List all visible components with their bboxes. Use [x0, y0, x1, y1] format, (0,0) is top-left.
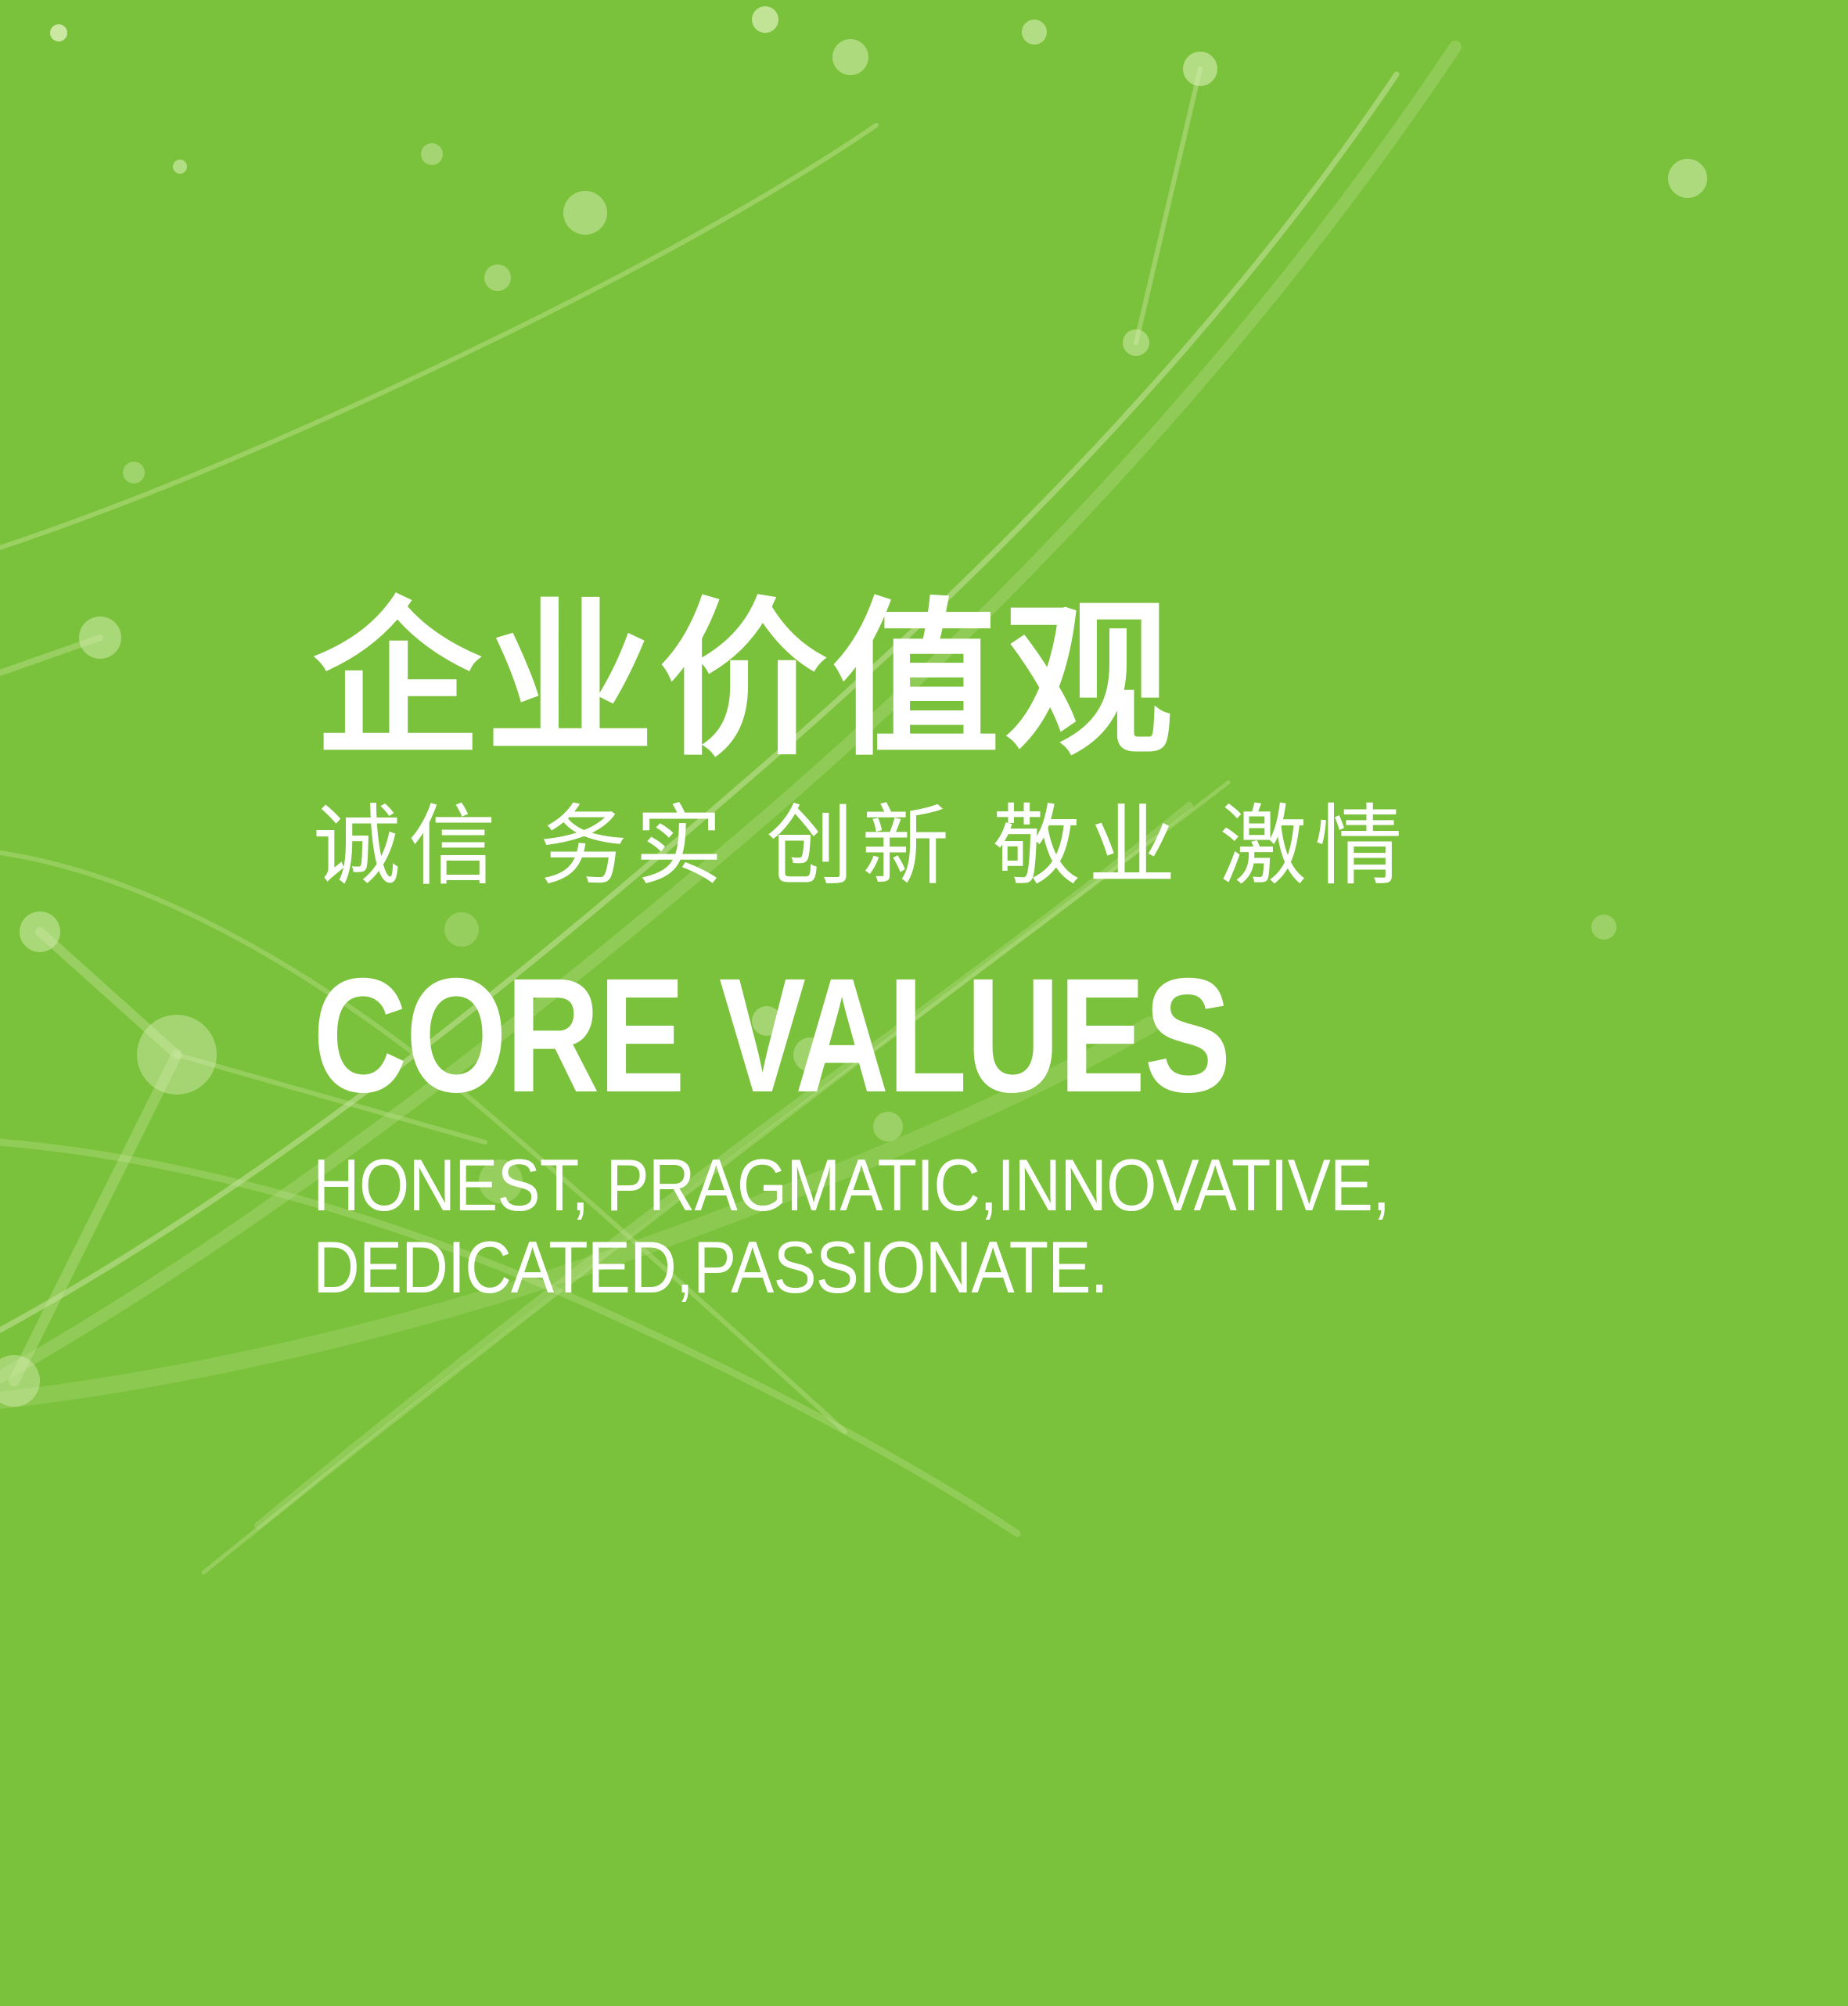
dot-bottom-left-node — [0, 1355, 40, 1407]
dot-left-node-c — [137, 1015, 217, 1095]
dot-curve-node-right — [1123, 329, 1149, 356]
dot-top-left-small — [50, 24, 67, 41]
curve-node-link-e — [1136, 69, 1200, 343]
curve-node-link-a — [40, 932, 177, 1055]
dot-mid-small-a — [484, 264, 511, 291]
dot-top-mid-tiny — [421, 143, 443, 165]
poster-canvas: 企业价值观 诚信 务实 创新 敬业 激情 CORE VALUES HONEST,… — [0, 0, 1848, 2006]
dot-left-node-a — [79, 617, 121, 659]
curve-node-link-b — [14, 1055, 177, 1381]
dot-top-right-c — [1022, 20, 1047, 45]
dot-left-node-b — [20, 911, 60, 952]
body-en: HONEST, PRAGMATIC,INNOVATIVE, DEDICATED,… — [313, 1144, 1552, 1309]
dot-node-upper-curve — [1183, 52, 1217, 86]
dot-left-mid — [123, 462, 145, 484]
dot-top-right-b — [832, 39, 868, 75]
curve-node-link-d — [0, 638, 100, 673]
page-title-cn: 企业价值观 — [313, 595, 1721, 766]
subtitle-cn: 诚信 务实 创新 敬业 激情 — [313, 783, 1721, 910]
curve-left-upper — [0, 125, 876, 548]
page-title-en: CORE VALUES — [313, 954, 1440, 1117]
dot-top-mid-small — [173, 160, 187, 174]
dot-top-right-a — [752, 6, 778, 33]
body-en-line-2: DEDICATED,PASSIONATE. — [313, 1226, 1552, 1308]
dot-mid-node-large — [563, 191, 607, 235]
dot-top-right-far — [1668, 159, 1707, 198]
headline-block: 企业价值观 诚信 务实 创新 敬业 激情 CORE VALUES HONEST,… — [313, 595, 1721, 1308]
body-en-line-1: HONEST, PRAGMATIC,INNOVATIVE, — [313, 1144, 1552, 1226]
